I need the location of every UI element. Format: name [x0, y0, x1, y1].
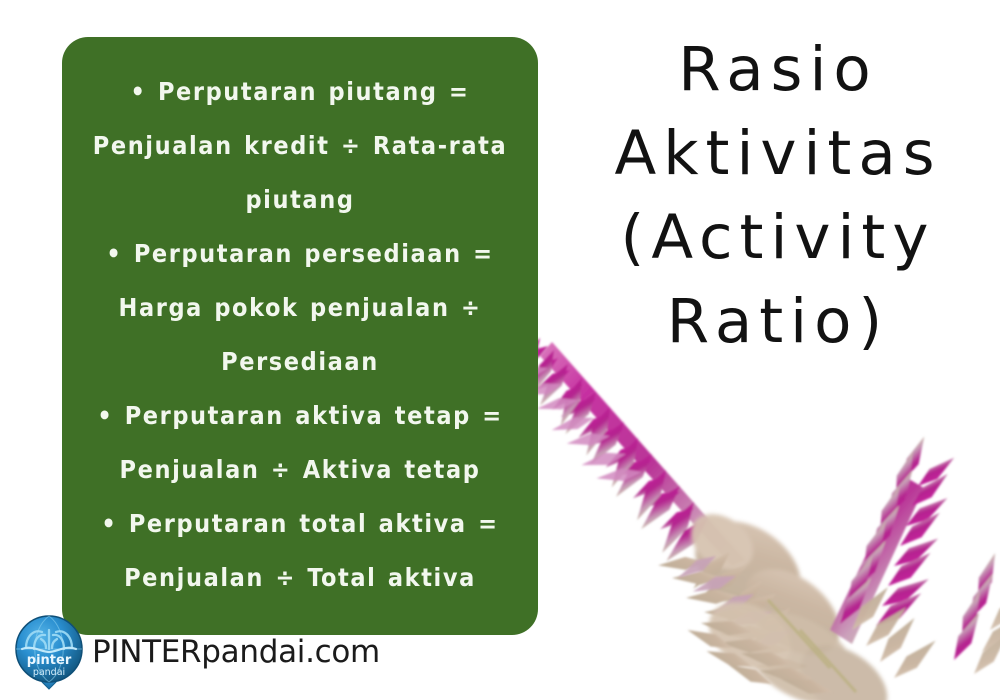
list-item: Perputaran total aktiva = Penjualan ÷ To…: [76, 497, 524, 605]
title-line-2: Aktivitas: [578, 112, 978, 196]
formula-card: Perputaran piutang = Penjualan kredit ÷ …: [62, 37, 538, 635]
brand-footer[interactable]: pinter pandai PINTERpandai.com: [8, 612, 380, 694]
page-title: Rasio Aktivitas (Activity Ratio): [578, 28, 978, 364]
poster-canvas: Rasio Aktivitas (Activity Ratio) Perputa…: [0, 0, 1000, 700]
logo-text-pandai: pandai: [33, 667, 65, 678]
title-line-3: (Activity: [578, 196, 978, 280]
brand-name[interactable]: PINTERpandai.com: [92, 637, 380, 670]
brain-bulb-logo-icon[interactable]: pinter pandai: [8, 612, 90, 694]
formula-list: Perputaran piutang = Penjualan kredit ÷ …: [76, 65, 524, 605]
title-line-4: Ratio): [578, 280, 978, 364]
list-item: Perputaran persediaan = Harga pokok penj…: [76, 227, 524, 389]
list-item: Perputaran piutang = Penjualan kredit ÷ …: [76, 65, 524, 227]
list-item: Perputaran aktiva tetap = Penjualan ÷ Ak…: [76, 389, 524, 497]
title-line-1: Rasio: [578, 28, 978, 112]
logo-text-pinter: pinter: [27, 653, 72, 668]
